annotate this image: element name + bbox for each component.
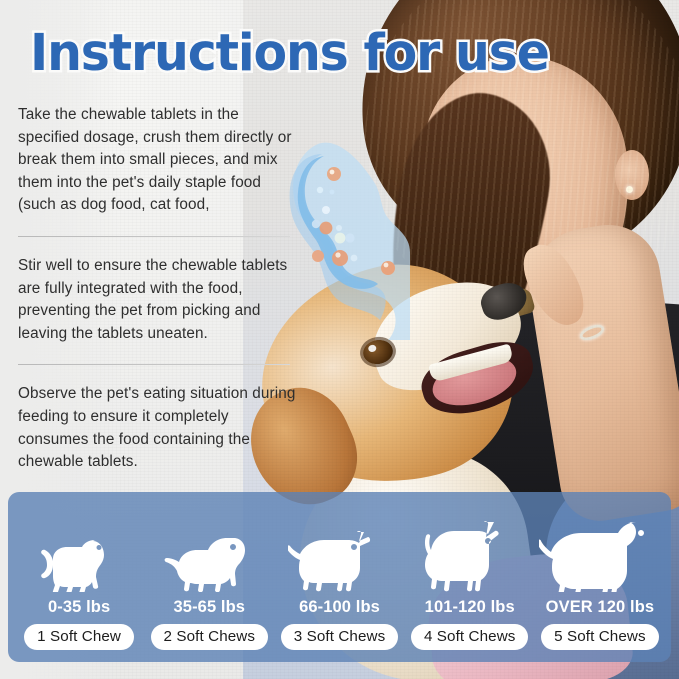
instructions-copy: Take the chewable tablets in the specifi… <box>18 104 298 474</box>
earring <box>626 186 633 193</box>
page-title: Instructions for use <box>30 24 549 83</box>
divider-2 <box>18 364 290 365</box>
woman-ear <box>615 150 649 200</box>
dosage-weight-0: 0-35 lbs <box>48 598 110 617</box>
dosage-amount-0: 1 Soft Chew <box>24 624 134 650</box>
dosage-item-4: OVER 120 lbs 5 Soft Chews <box>535 516 665 650</box>
dosage-item-3: 101-120 lbs 4 Soft Chews <box>405 520 535 650</box>
instruction-paragraph-2: Stir well to ensure the chewable tablets… <box>18 255 298 345</box>
divider-1 <box>18 236 290 237</box>
dosage-weight-3: 101-120 lbs <box>425 598 515 617</box>
husky-dog-icon <box>420 520 520 592</box>
small-dog-icon <box>37 530 121 592</box>
dosage-weight-2: 66-100 lbs <box>299 598 380 617</box>
dosage-item-0: 0-35 lbs 1 Soft Chew <box>14 530 144 650</box>
dosage-item-1: 35-65 lbs 2 Soft Chews <box>144 530 274 650</box>
dosage-amount-4: 5 Soft Chews <box>541 624 659 650</box>
instruction-paragraph-3: Observe the pet's eating situation durin… <box>18 383 298 473</box>
dosage-panel: 0-35 lbs 1 Soft Chew 35-65 lbs 2 Soft Ch… <box>8 492 671 662</box>
instructions-infographic: Instructions for use Take the chewable t… <box>0 0 679 679</box>
instruction-paragraph-1: Take the chewable tablets in the specifi… <box>18 104 298 217</box>
dosage-amount-1: 2 Soft Chews <box>151 624 269 650</box>
dosage-item-2: 66-100 lbs 3 Soft Chews <box>274 528 404 650</box>
puppy-dog-icon <box>163 530 255 592</box>
corgi-dog-icon <box>288 528 392 592</box>
dosage-amount-3: 4 Soft Chews <box>411 624 529 650</box>
dosage-amount-2: 3 Soft Chews <box>281 624 399 650</box>
dosage-weight-4: OVER 120 lbs <box>546 598 655 617</box>
dosage-weight-1: 35-65 lbs <box>174 598 246 617</box>
large-dog-icon <box>539 516 661 592</box>
